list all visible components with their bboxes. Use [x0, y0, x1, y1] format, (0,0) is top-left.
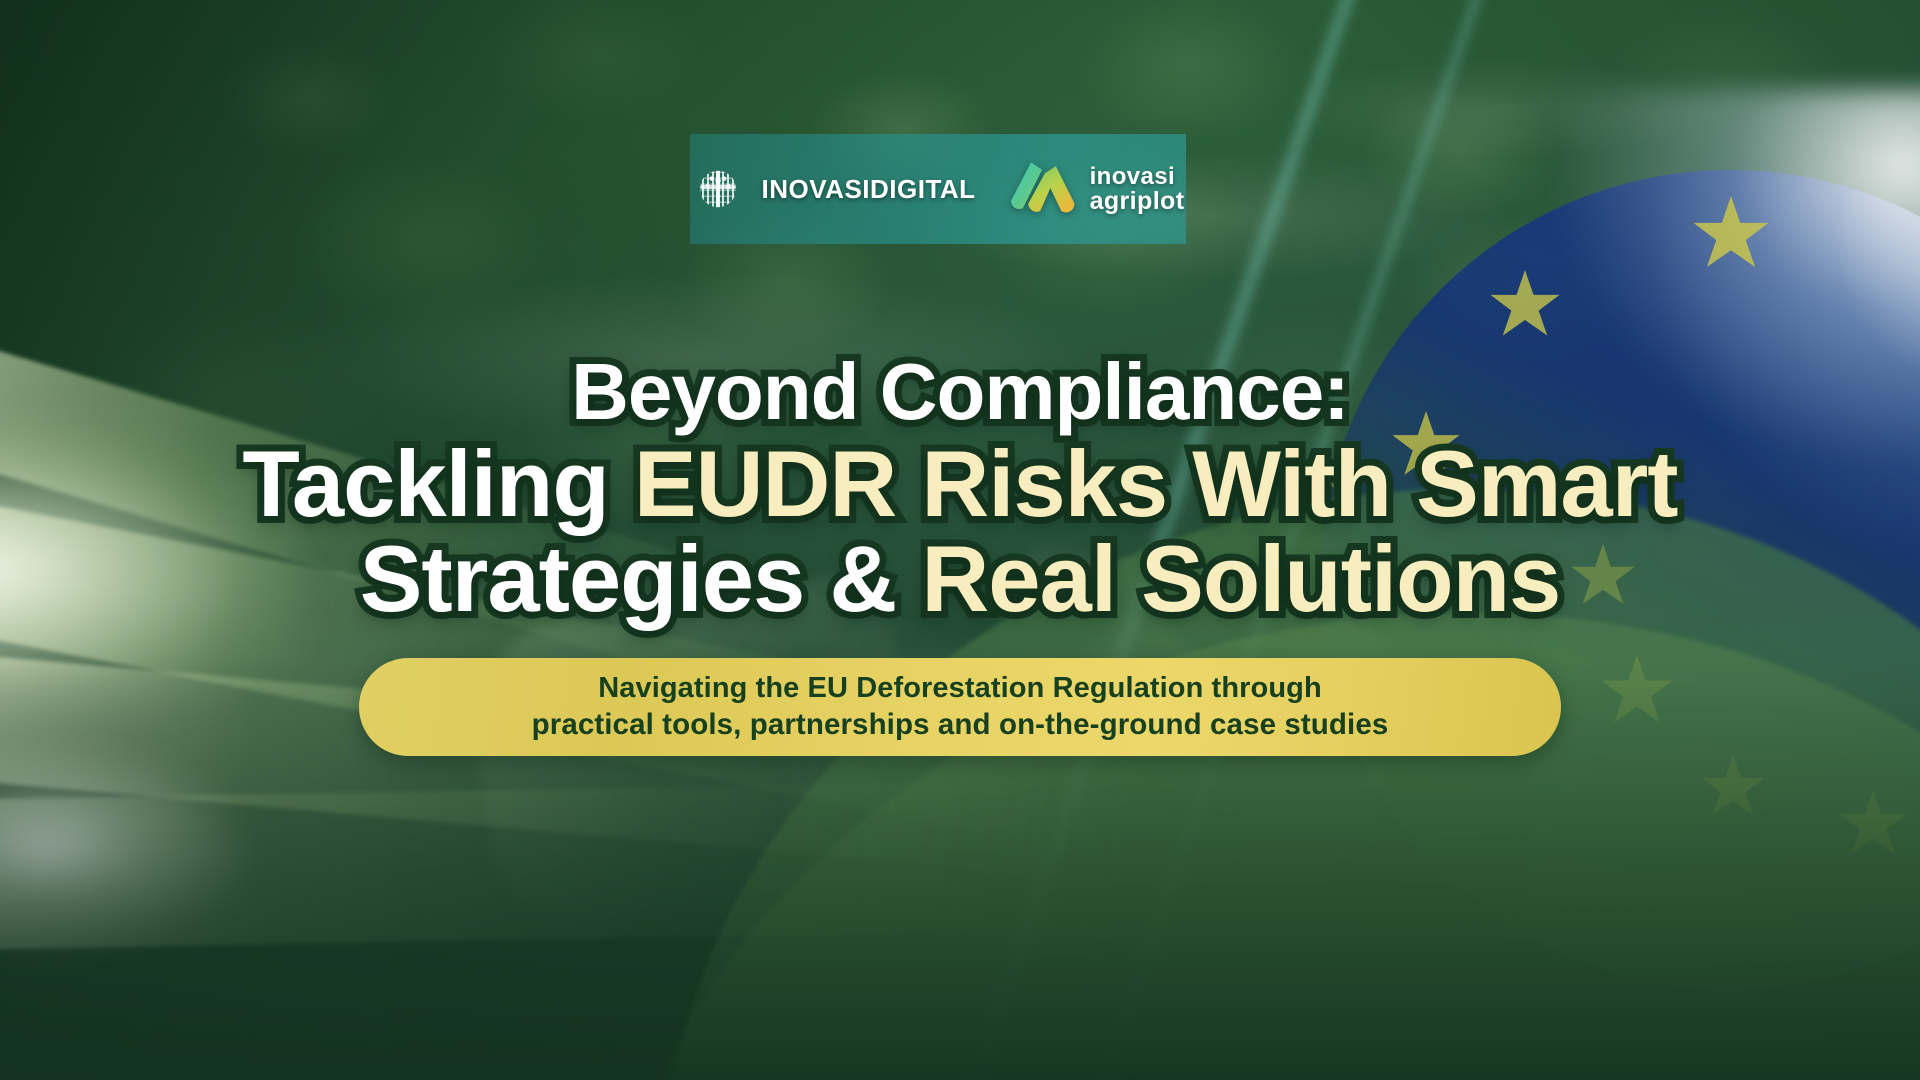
headline-line-3-cream: Real Solutions — [921, 526, 1560, 631]
poster-canvas: INOVASIDIGITAL — [0, 0, 1920, 1080]
subtitle-line-1: Navigating the EU Deforestation Regulati… — [598, 671, 1322, 706]
subtitle-line-2: practical tools, partnerships and on-the… — [532, 707, 1389, 743]
brand-inovasidigital: INOVASIDIGITAL — [692, 163, 976, 215]
logo-band: INOVASIDIGITAL — [690, 134, 1186, 244]
brand-inovasi-agriplot: inovasi agriplot — [1010, 160, 1185, 218]
headline-block: Beyond Compliance: Tackling EUDR Risks W… — [0, 352, 1920, 625]
circular-tree-circuit-emblem-icon — [692, 163, 744, 215]
headline-line-3-white: Strategies & — [360, 526, 897, 631]
brand-agriplot-wordmark: inovasi agriplot — [1090, 165, 1185, 213]
agriplot-m-gradient-mark-icon — [1010, 160, 1076, 218]
brand-inovasidigital-label: INOVASIDIGITAL — [762, 174, 976, 205]
brand-agriplot-line2: agriplot — [1090, 189, 1185, 214]
headline-line-2-cream: EUDR Risks With Smart — [634, 431, 1678, 536]
headline-line-1: Beyond Compliance: — [0, 352, 1920, 431]
headline-line-2-white: Tackling — [242, 431, 608, 536]
subtitle-banner: Navigating the EU Deforestation Regulati… — [359, 658, 1561, 756]
headline-line-3: Strategies & Real Solutions — [0, 532, 1920, 625]
headline-line-2: Tackling EUDR Risks With Smart — [0, 437, 1920, 530]
brand-agriplot-line1: inovasi — [1090, 165, 1185, 189]
